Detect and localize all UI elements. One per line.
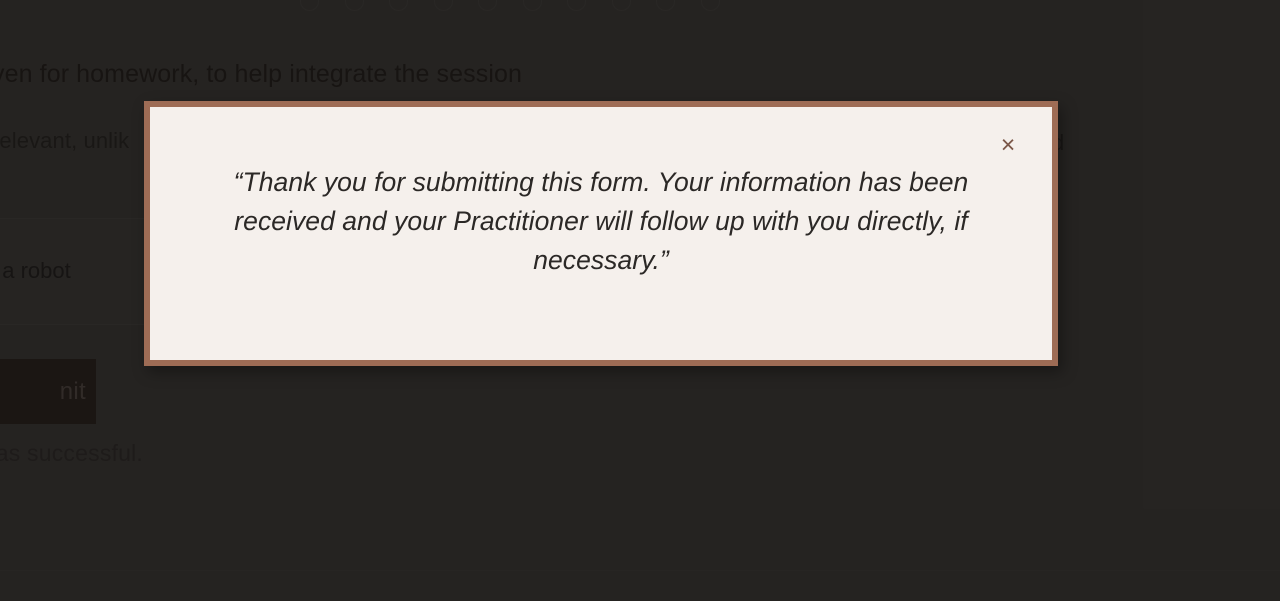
close-icon[interactable]: × xyxy=(994,131,1022,159)
modal-message: “Thank you for submitting this form. You… xyxy=(190,163,1012,280)
page-root: ven for homework, to help integrate the … xyxy=(0,0,1280,601)
modal-body: “Thank you for submitting this form. You… xyxy=(190,163,1012,280)
confirmation-modal: × “Thank you for submitting this form. Y… xyxy=(144,101,1058,366)
